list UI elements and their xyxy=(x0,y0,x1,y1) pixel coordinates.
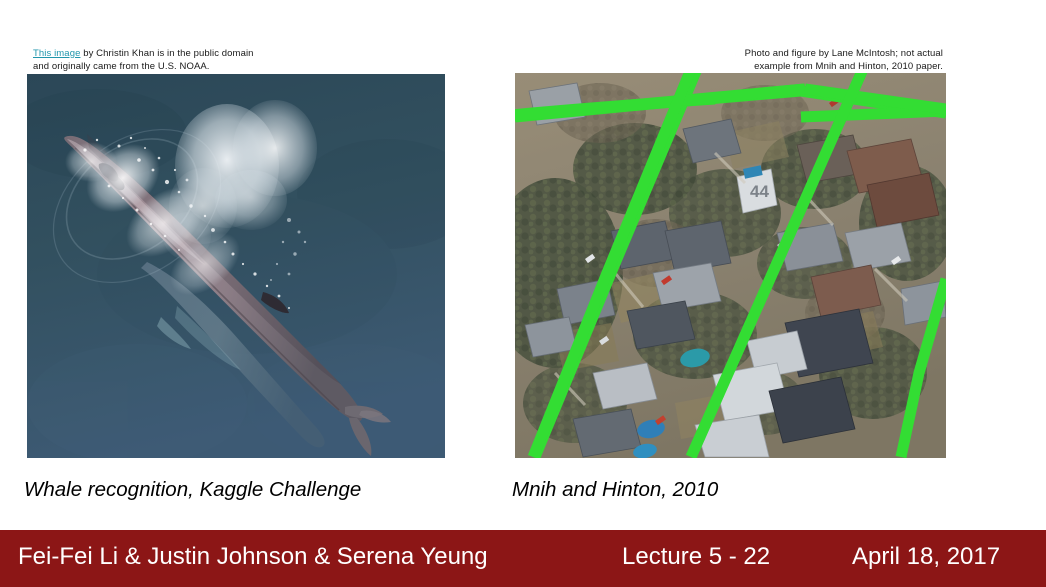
aerial-photo-graphic: 44 xyxy=(515,73,946,458)
this-image-link[interactable]: This image xyxy=(33,48,80,59)
footer-date: April 18, 2017 xyxy=(852,543,1000,571)
aerial-caption: Mnih and Hinton, 2010 xyxy=(512,478,718,502)
svg-text:44: 44 xyxy=(750,182,769,201)
aerial-credit-line2: example from Mnih and Hinton, 2010 paper… xyxy=(754,61,943,72)
whale-credit-line2: and originally came from the U.S. NOAA. xyxy=(33,61,210,72)
whale-credit-line1-rest: by Christin Khan is in the public domain xyxy=(80,48,253,59)
whale-image-credit: This image by Christin Khan is in the pu… xyxy=(33,48,293,74)
whale-caption: Whale recognition, Kaggle Challenge xyxy=(24,478,361,502)
aerial-credit-line1: Photo and figure by Lane McIntosh; not a… xyxy=(745,48,943,59)
footer-authors: Fei-Fei Li & Justin Johnson & Serena Yeu… xyxy=(18,543,488,571)
aerial-image-credit: Photo and figure by Lane McIntosh; not a… xyxy=(700,48,943,74)
footer-lecture-number: Lecture 5 - 22 xyxy=(622,543,770,571)
footer-bar: Fei-Fei Li & Justin Johnson & Serena Yeu… xyxy=(0,530,1046,587)
whale-photo-graphic xyxy=(27,74,445,458)
aerial-photo: 44 xyxy=(515,73,946,458)
whale-photo xyxy=(27,74,445,458)
